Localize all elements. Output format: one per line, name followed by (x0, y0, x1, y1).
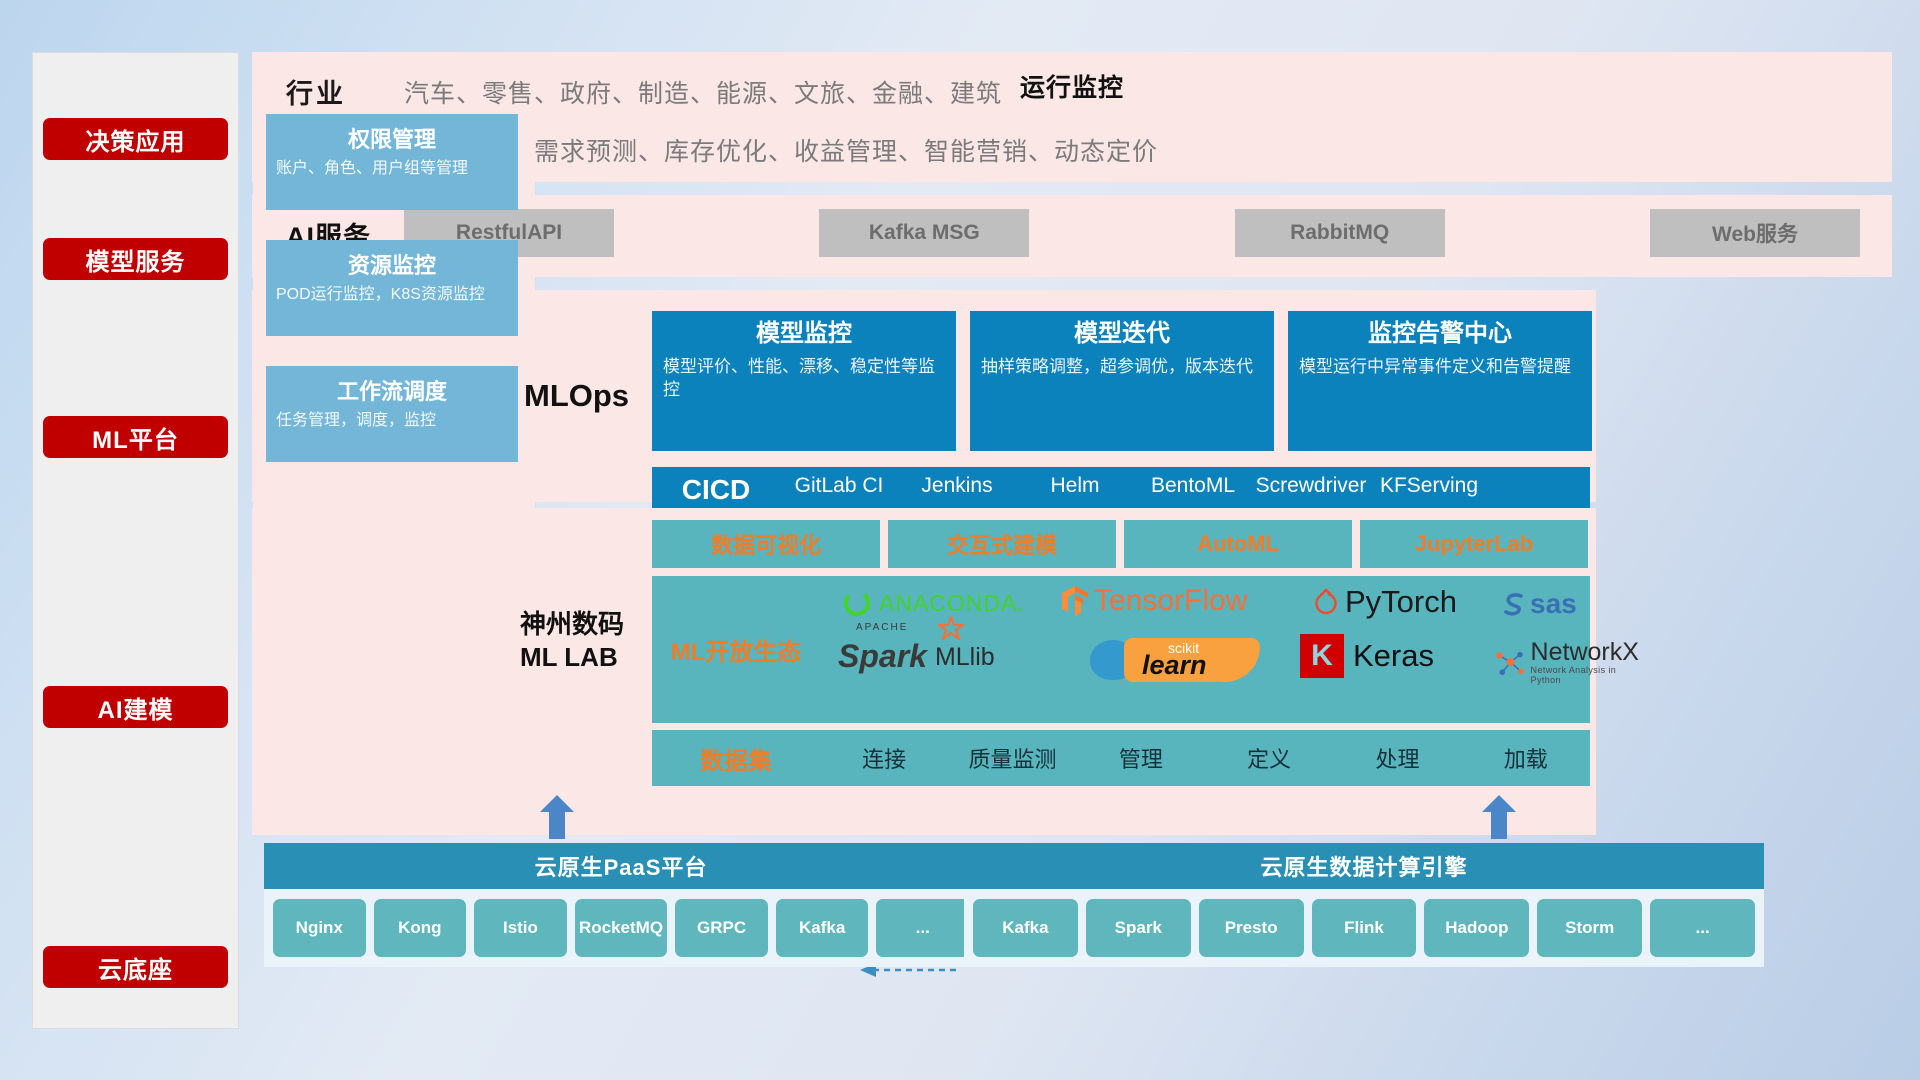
keras-wordmark: Keras (1353, 638, 1434, 674)
card-title: 监控告警中心 (1299, 320, 1581, 349)
tensorflow-mark-icon (1060, 584, 1090, 618)
tool-chip-interactive-modeling[interactable]: 交互式建模 (888, 520, 1116, 568)
paas-chip[interactable]: RocketMQ (575, 899, 668, 957)
dataset-item[interactable]: 质量监测 (948, 742, 1076, 774)
engine-chip[interactable]: Spark (1086, 899, 1191, 957)
anaconda-logo: ANACONDA. (842, 588, 1025, 618)
dataset-item[interactable]: 连接 (820, 742, 948, 774)
cicd-item[interactable]: Helm (1016, 474, 1134, 498)
cloud-native-data-engine-group: 云原生数据计算引擎 Kafka Spark Presto Flink Hadoo… (964, 843, 1764, 967)
cicd-item[interactable]: Screwdriver (1252, 474, 1370, 498)
sas-wordmark: sas (1530, 588, 1577, 620)
ml-lab-label: 神州数码 ML LAB (520, 608, 650, 675)
pytorch-logo: PyTorch (1313, 584, 1457, 620)
paas-chip[interactable]: GRPC (675, 899, 768, 957)
modeling-tool-chip-list: 数据可视化 交互式建模 AutoML JupyterLab (652, 520, 1588, 568)
stage-pill-decision[interactable]: 决策应用 (43, 118, 228, 160)
mlops-card-alert-center[interactable]: 监控告警中心 模型运行中异常事件定义和告警提醒 (1288, 311, 1592, 451)
ml-ecosystem-box: ML开放生态 ANACONDA. TensorFlo (652, 576, 1590, 723)
engine-chip[interactable]: Presto (1199, 899, 1304, 957)
ai-service-chip[interactable]: Kafka MSG (819, 209, 1029, 257)
engine-title: 云原生数据计算引擎 (964, 843, 1764, 889)
ml-lab-label-line2: ML LAB (520, 641, 650, 674)
ml-lab-label-line1: 神州数码 (520, 608, 650, 641)
pytorch-wordmark: PyTorch (1345, 584, 1457, 620)
cicd-item[interactable]: GitLab CI (780, 474, 898, 498)
engine-chip[interactable]: Storm (1537, 899, 1642, 957)
paas-chip[interactable]: Istio (474, 899, 567, 957)
mllib-wordmark: MLlib (935, 643, 995, 672)
stage-pill-ml-platform[interactable]: ML平台 (43, 416, 228, 458)
keras-logo: K Keras (1300, 634, 1434, 678)
cicd-item[interactable]: KFServing (1370, 474, 1488, 498)
mlops-label: MLOps (524, 378, 629, 414)
dataset-title: 数据集 (652, 741, 820, 776)
networkx-wordmark: NetworkX (1531, 640, 1642, 665)
monitoring-card-resource[interactable]: 资源监控 POD运行监控，K8S资源监控 (266, 240, 518, 336)
tensorflow-logo: TensorFlow (1060, 584, 1247, 618)
dataset-item[interactable]: 定义 (1205, 742, 1333, 774)
card-desc: POD运行监控，K8S资源监控 (276, 285, 508, 306)
monitoring-card-workflow[interactable]: 工作流调度 任务管理，调度，监控 (266, 366, 518, 462)
card-title: 资源监控 (276, 248, 508, 280)
engine-chip-list: Kafka Spark Presto Flink Hadoop Storm ..… (964, 889, 1764, 957)
stage-pill-ai-modeling[interactable]: AI建模 (43, 686, 228, 728)
paas-chip[interactable]: Nginx (273, 899, 366, 957)
tool-chip-automl[interactable]: AutoML (1124, 520, 1352, 568)
ml-ecosystem-logo-grid: ANACONDA. TensorFlow (820, 576, 1590, 723)
paas-chip-more[interactable]: ... (876, 899, 969, 957)
anaconda-wordmark: ANACONDA. (879, 590, 1025, 617)
learn-wordmark: learn (1142, 650, 1207, 681)
spark-wordmark: Spark (838, 638, 927, 674)
tool-chip-data-visualization[interactable]: 数据可视化 (652, 520, 880, 568)
cicd-item[interactable]: Jenkins (898, 474, 1016, 498)
card-desc: 模型评价、性能、漂移、稳定性等监控 (663, 356, 945, 402)
up-arrow-icon-paas (540, 795, 574, 839)
networkx-tagline: Network Analysis in Python (1531, 665, 1642, 685)
spark-star-icon (938, 616, 964, 641)
mlops-card-model-iteration[interactable]: 模型迭代 抽样策略调整，超参调优，版本迭代 (970, 311, 1274, 451)
sas-mark-icon (1500, 590, 1528, 618)
networkx-mark-icon (1492, 646, 1526, 680)
engine-chip-more[interactable]: ... (1650, 899, 1755, 957)
dataset-item[interactable]: 处理 (1333, 742, 1461, 774)
ai-service-chip-list: RestfulAPI Kafka MSG RabbitMQ Web服务 (404, 209, 1860, 257)
networkx-logo: NetworkX Network Analysis in Python (1492, 640, 1641, 685)
ml-ecosystem-label: ML开放生态 (652, 632, 820, 667)
spark-mllib-logo: APACHE Spark MLlib (838, 638, 995, 675)
cicd-item[interactable]: BentoML (1134, 474, 1252, 498)
tool-chip-jupyterlab[interactable]: JupyterLab (1360, 520, 1588, 568)
stage-pill-label: AI建模 (98, 690, 174, 725)
anaconda-mark-icon (842, 588, 872, 618)
ai-service-chip[interactable]: Web服务 (1650, 209, 1860, 257)
runtime-monitoring-title: 运行监控 (252, 68, 1892, 104)
engine-chip[interactable]: Flink (1312, 899, 1417, 957)
apache-tag: APACHE (856, 622, 908, 633)
engine-chip[interactable]: Kafka (973, 899, 1078, 957)
scikit-learn-logo: scikit learn (1090, 638, 1260, 682)
card-title: 模型监控 (663, 320, 945, 349)
keras-mark-icon: K (1300, 634, 1344, 678)
engine-chip[interactable]: Hadoop (1424, 899, 1529, 957)
pytorch-mark-icon (1313, 586, 1339, 618)
up-arrow-icon-engine (1482, 795, 1516, 839)
card-title: 工作流调度 (276, 374, 508, 406)
stage-rail: 决策应用 模型服务 ML平台 AI建模 云底座 (32, 52, 239, 1029)
card-title: 权限管理 (276, 122, 508, 154)
mlops-card-list: 模型监控 模型评价、性能、漂移、稳定性等监控 模型迭代 抽样策略调整，超参调优，… (652, 311, 1592, 451)
card-desc: 账户、角色、用户组等管理 (276, 159, 508, 180)
cicd-title: CICD (652, 474, 780, 506)
mlops-card-model-monitoring[interactable]: 模型监控 模型评价、性能、漂移、稳定性等监控 (652, 311, 956, 451)
paas-chip[interactable]: Kafka (776, 899, 869, 957)
stage-pill-cloud-base[interactable]: 云底座 (43, 946, 228, 988)
paas-chip-list: Nginx Kong Istio RocketMQ GRPC Kafka ... (264, 889, 978, 957)
cloud-native-paas-group: 云原生PaaS平台 Nginx Kong Istio RocketMQ GRPC… (264, 843, 978, 967)
card-desc: 抽样策略调整，超参调优，版本迭代 (981, 356, 1263, 379)
stage-pill-label: 云底座 (98, 950, 173, 985)
cloud-foundation-layer: 云原生PaaS平台 Nginx Kong Istio RocketMQ GRPC… (252, 795, 1892, 1027)
ai-service-chip[interactable]: RabbitMQ (1235, 209, 1445, 257)
stage-pill-label: 模型服务 (86, 242, 186, 277)
dataset-item[interactable]: 管理 (1077, 742, 1205, 774)
card-desc: 任务管理，调度，监控 (276, 411, 508, 432)
stage-pill-label: 决策应用 (86, 122, 186, 157)
monitoring-card-permission[interactable]: 权限管理 账户、角色、用户组等管理 (266, 114, 518, 210)
paas-chip[interactable]: Kong (374, 899, 467, 957)
stage-pill-model-service[interactable]: 模型服务 (43, 238, 228, 280)
card-desc: 模型运行中异常事件定义和告警提醒 (1299, 356, 1581, 379)
card-title: 模型迭代 (981, 320, 1263, 349)
ai-modeling-band: 神州数码 ML LAB 数据可视化 交互式建模 AutoML JupyterLa… (252, 508, 1596, 835)
dataset-item[interactable]: 加载 (1462, 742, 1590, 774)
tensorflow-wordmark: TensorFlow (1094, 584, 1247, 618)
sas-logo: sas (1500, 588, 1577, 620)
dataset-bar: 数据集 连接 质量监测 管理 定义 处理 加载 (652, 730, 1590, 786)
paas-title: 云原生PaaS平台 (264, 843, 978, 889)
stage-pill-label: ML平台 (92, 420, 179, 455)
